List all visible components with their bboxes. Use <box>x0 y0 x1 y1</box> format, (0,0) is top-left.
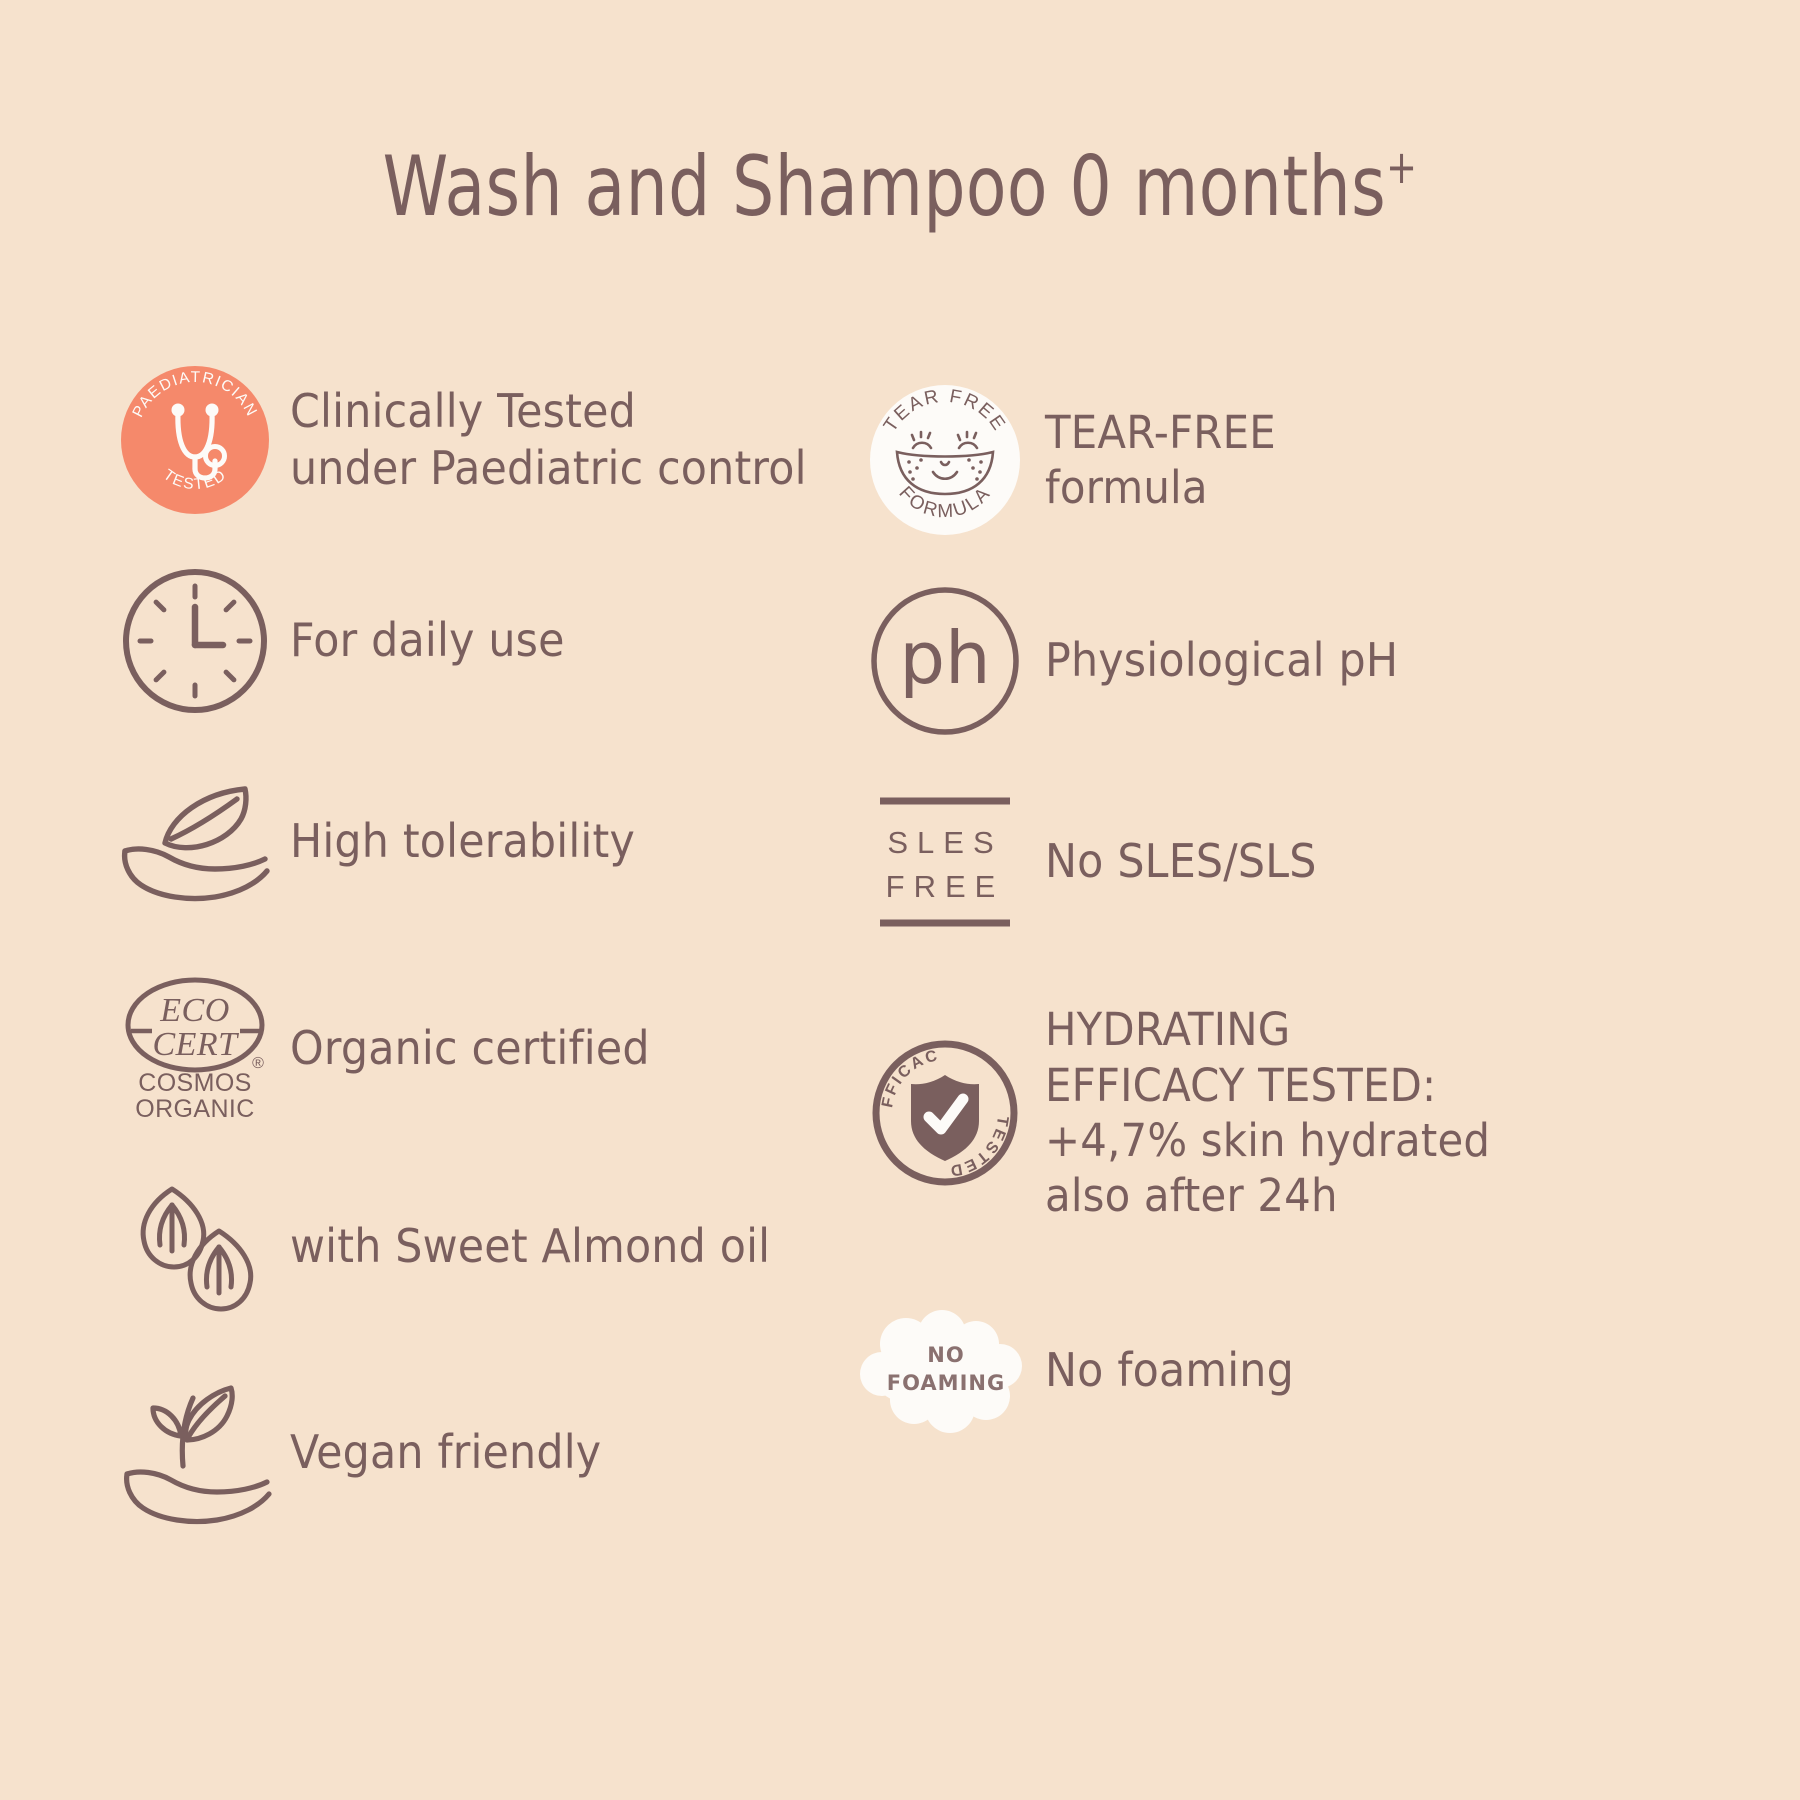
svg-text:FREE: FREE <box>886 869 1005 904</box>
benefit-label-daily-use: For daily use <box>290 612 565 669</box>
icon-cell-ph: ph <box>845 568 1045 753</box>
icon-cell-almond <box>100 1156 290 1336</box>
benefit-label-organic-certified: Organic certified <box>290 1020 650 1077</box>
icon-cell-tear-free: TEAR FREE FORMULA <box>845 370 1045 550</box>
svg-text:ph: ph <box>899 616 990 700</box>
left-benefits-column: PAEDIATRICIAN TESTED Clinica <box>100 350 900 1465</box>
benefit-label-high-tolerability: High tolerability <box>290 813 635 870</box>
tear-free-formula-badge-icon: TEAR FREE FORMULA <box>869 384 1021 536</box>
benefit-row-no-sles-sls: SLES FREE No SLES/SLS <box>845 769 1725 954</box>
page-title-superscript: + <box>1386 140 1417 194</box>
benefit-row-clinically-tested: PAEDIATRICIAN TESTED Clinica <box>100 350 900 530</box>
svg-text:FOAMING: FOAMING <box>886 1371 1004 1395</box>
icon-cell-sles-free: SLES FREE <box>845 769 1045 954</box>
svg-text:COSMOS: COSMOS <box>138 1069 252 1097</box>
svg-text:SLES: SLES <box>887 825 1002 860</box>
svg-text:ORGANIC: ORGANIC <box>135 1095 254 1123</box>
svg-text:ECO: ECO <box>159 992 230 1029</box>
benefit-label-no-foaming: No foaming <box>1045 1342 1294 1399</box>
benefit-label-vegan-friendly: Vegan friendly <box>290 1424 601 1481</box>
benefit-row-hydrating-efficacy: EFFICACY TESTED HYDRATING EFFICACY TESTE… <box>845 1008 1725 1218</box>
icon-cell-hand-leaf <box>100 749 290 934</box>
benefit-row-physiological-ph: ph Physiological pH <box>845 568 1725 753</box>
page-title: Wash and Shampoo 0 months+ <box>180 138 1620 235</box>
ph-circle-icon: ph <box>869 585 1021 737</box>
benefit-row-sweet-almond-oil: with Sweet Almond oil <box>100 1156 900 1336</box>
svg-text:CERT: CERT <box>152 1026 239 1063</box>
benefit-row-tear-free: TEAR FREE FORMULA <box>845 370 1725 550</box>
benefit-label-hydrating-efficacy: HYDRATING EFFICACY TESTED: +4,7% skin hy… <box>1045 1002 1490 1223</box>
efficacy-tested-shield-badge-icon: EFFICACY TESTED <box>869 1037 1021 1189</box>
paediatrician-tested-badge-icon: PAEDIATRICIAN TESTED <box>120 365 270 515</box>
infographic-page: Wash and Shampoo 0 months+ PAEDIATRICIAN… <box>0 0 1800 1800</box>
benefit-label-sweet-almond-oil: with Sweet Almond oil <box>290 1218 770 1275</box>
benefit-row-no-foaming: NO FOAMING No foaming <box>845 1278 1725 1463</box>
hand-with-leaf-icon <box>115 777 275 907</box>
icon-cell-efficacy-tested: EFFICACY TESTED <box>845 1008 1045 1218</box>
sles-free-icon: SLES FREE <box>870 787 1020 937</box>
benefit-label-no-sles-sls: No SLES/SLS <box>1045 833 1317 890</box>
svg-text:®: ® <box>252 1055 264 1072</box>
benefit-row-organic-certified: ECO CERT ® COSMOS ORGANIC Organic certif… <box>100 948 900 1148</box>
no-foaming-cloud-icon: NO FOAMING <box>858 1308 1033 1433</box>
page-title-text: Wash and Shampoo 0 months <box>383 138 1386 235</box>
icon-cell-ecocert: ECO CERT ® COSMOS ORGANIC <box>100 948 290 1148</box>
benefit-label-tear-free: TEAR-FREE formula <box>1045 405 1276 516</box>
icon-cell-no-foaming: NO FOAMING <box>845 1278 1045 1463</box>
benefit-row-high-tolerability: High tolerability <box>100 749 900 934</box>
benefit-row-daily-use: For daily use <box>100 548 900 733</box>
icon-cell-paediatrician: PAEDIATRICIAN TESTED <box>100 350 290 530</box>
benefit-label-clinically-tested: Clinically Tested under Paediatric contr… <box>290 383 807 496</box>
sweet-almond-icon <box>120 1179 270 1314</box>
clock-icon <box>120 566 270 716</box>
right-benefits-column: TEAR FREE FORMULA <box>845 350 1725 1295</box>
svg-text:NO: NO <box>927 1343 964 1367</box>
icon-cell-vegan <box>100 1360 290 1545</box>
hand-with-sprout-icon <box>115 1378 275 1528</box>
benefit-row-vegan-friendly: Vegan friendly <box>100 1360 900 1545</box>
ecocert-cosmos-organic-logo-icon: ECO CERT ® COSMOS ORGANIC <box>114 973 276 1123</box>
benefit-label-physiological-ph: Physiological pH <box>1045 632 1398 689</box>
icon-cell-clock <box>100 548 290 733</box>
